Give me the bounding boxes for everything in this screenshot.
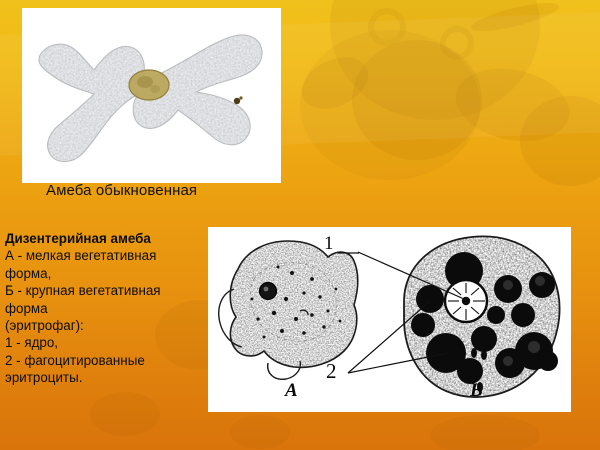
legend-text-block: Дизентерийная амеба А - мелкая вегетатив… [5, 230, 205, 387]
legend-line: 2 - фагоцитированные [5, 352, 205, 369]
legend-line: эритроциты. [5, 369, 205, 386]
callout-number-1: 1 [324, 233, 334, 255]
legend-line: 1 - ядро, [5, 334, 205, 351]
legend-line: А - мелкая вегетативная [5, 247, 205, 264]
panel-label-b: B [470, 380, 483, 402]
dysentery-amoeba-drawing [208, 227, 571, 412]
amoeba-photo-panel [22, 8, 281, 183]
legend-line: Б - крупная вегетативная [5, 282, 205, 299]
callout-number-2: 2 [326, 359, 337, 384]
dysentery-amoeba-figure-panel: 1 2 A B [208, 227, 571, 412]
amoeba-proteus-image [22, 8, 281, 183]
legend-line: (эритрофаг): [5, 317, 205, 334]
panel-label-a: A [285, 380, 298, 402]
slide-canvas: Амеба обыкновенная Дизентерийная амеба А… [0, 0, 600, 450]
legend-heading: Дизентерийная амеба [5, 230, 205, 247]
legend-line: форма [5, 300, 205, 317]
photo-caption: Амеба обыкновенная [46, 182, 197, 199]
legend-line: форма, [5, 265, 205, 282]
